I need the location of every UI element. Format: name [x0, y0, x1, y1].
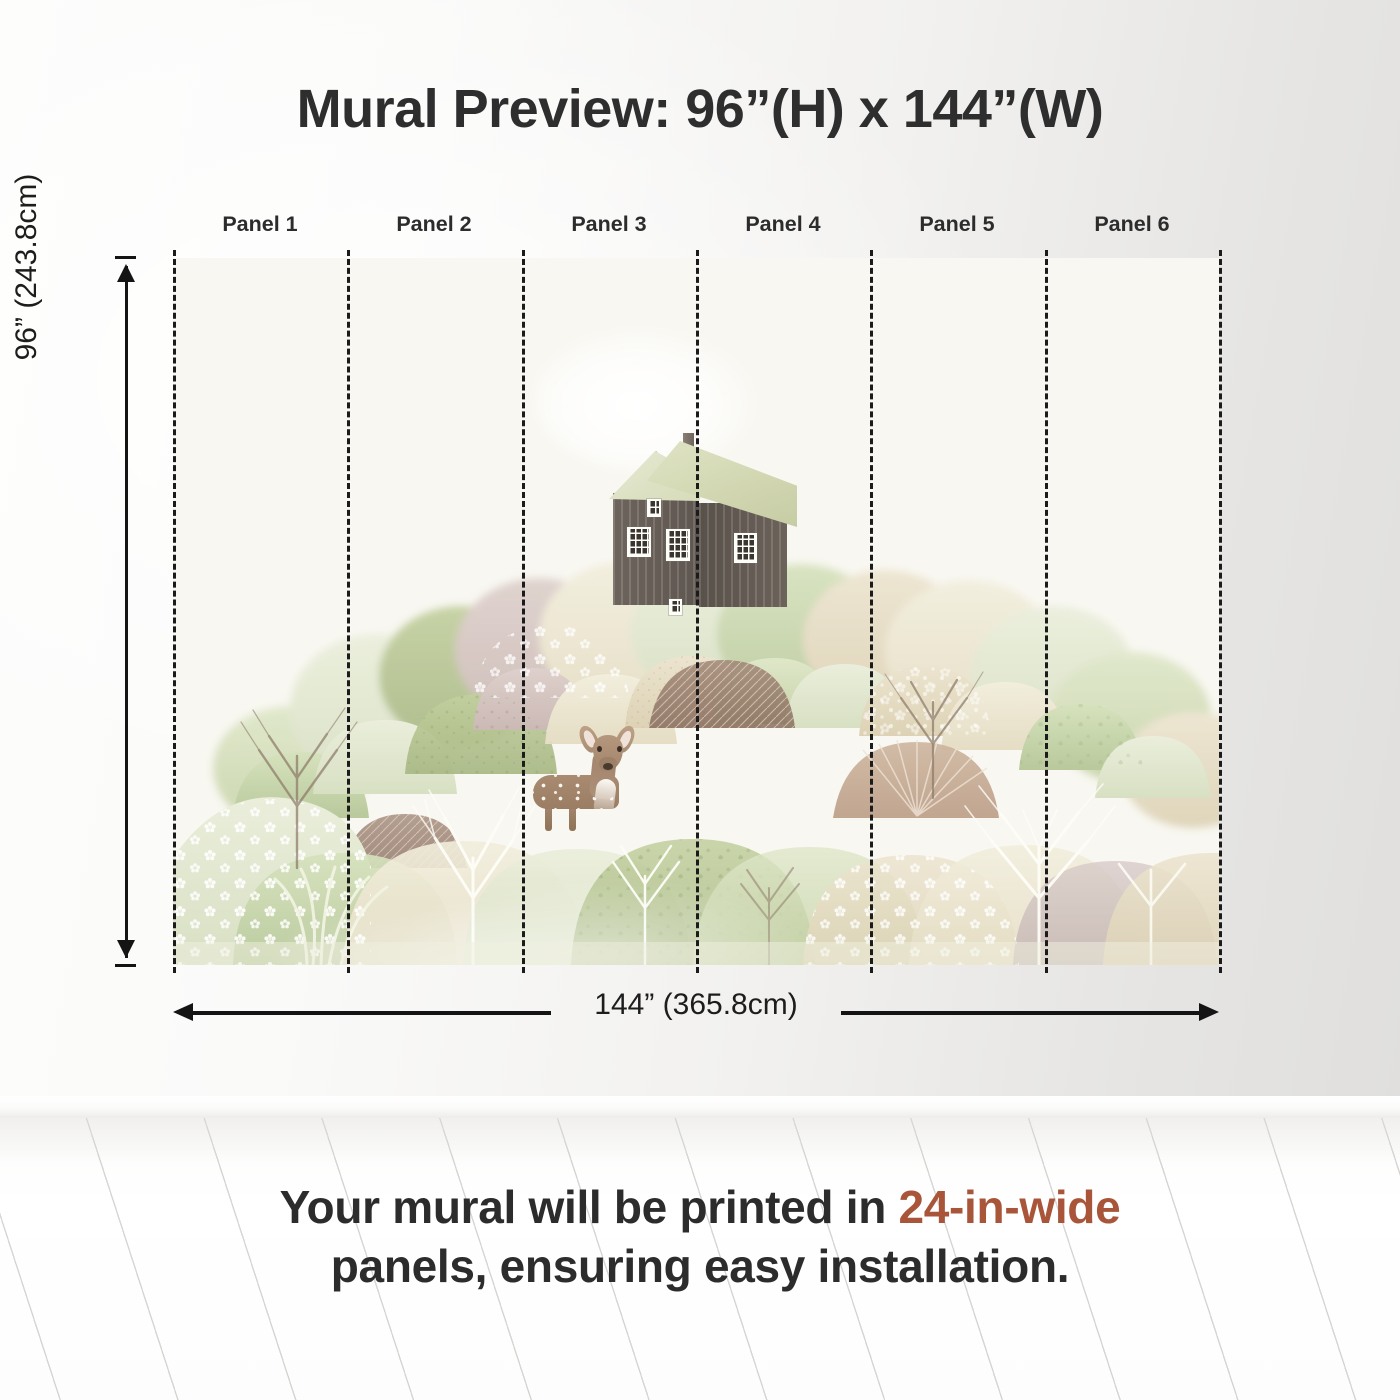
panel-divider-0 — [173, 250, 176, 973]
deer-eye-right — [617, 746, 622, 752]
house-window-center — [666, 529, 690, 561]
height-line — [125, 266, 128, 958]
window-panes — [649, 501, 659, 515]
height-dimension — [124, 256, 128, 968]
panel-divider-2 — [522, 250, 525, 973]
caption-line2: panels, ensuring easy installation. — [331, 1240, 1070, 1292]
panel-divider-6 — [1219, 250, 1222, 973]
height-tick-top — [115, 256, 136, 259]
house-window-gable — [647, 499, 661, 517]
panel-label-2: Panel 2 — [347, 212, 521, 237]
panel-label-6: Panel 6 — [1045, 212, 1219, 237]
panel-divider-3 — [696, 250, 699, 973]
caption: Your mural will be printed in 24-in-wide… — [0, 1178, 1400, 1296]
house-window-lower — [669, 599, 682, 615]
window-panes — [668, 531, 688, 559]
panel-divider-5 — [1045, 250, 1048, 973]
mural-preview-screenshot: Mural Preview: 96”(H) x 144”(W) — [0, 0, 1400, 1400]
page-title: Mural Preview: 96”(H) x 144”(W) — [0, 78, 1400, 140]
width-dimension: 144” (365.8cm) — [173, 1011, 1219, 1015]
house-window-right — [734, 533, 757, 563]
panel-label-1: Panel 1 — [173, 212, 347, 237]
height-label: 96” (243.8cm) — [10, 157, 44, 377]
caption-accent: 24-in-wide — [898, 1181, 1120, 1233]
window-panes — [736, 535, 755, 561]
window-panes — [629, 529, 649, 555]
caption-line1-before: Your mural will be printed in — [280, 1181, 899, 1233]
panel-label-5: Panel 5 — [870, 212, 1044, 237]
panel-divider-1 — [347, 250, 350, 973]
height-tick-bottom — [115, 964, 136, 967]
width-label: 144” (365.8cm) — [173, 988, 1219, 1022]
cottage-house — [603, 433, 813, 603]
deer-chest — [593, 778, 617, 816]
height-arrow-down-icon — [117, 940, 135, 958]
house-window-left — [627, 527, 651, 557]
wall-baseboard — [0, 1096, 1400, 1118]
height-arrow-up-icon — [117, 264, 135, 282]
panel-divider-4 — [870, 250, 873, 973]
deer-fawn — [533, 713, 643, 828]
deer-nose — [603, 763, 613, 770]
deer-eye-left — [597, 746, 602, 752]
panel-label-3: Panel 3 — [522, 212, 696, 237]
panel-label-4: Panel 4 — [696, 212, 870, 237]
window-panes — [671, 601, 680, 613]
